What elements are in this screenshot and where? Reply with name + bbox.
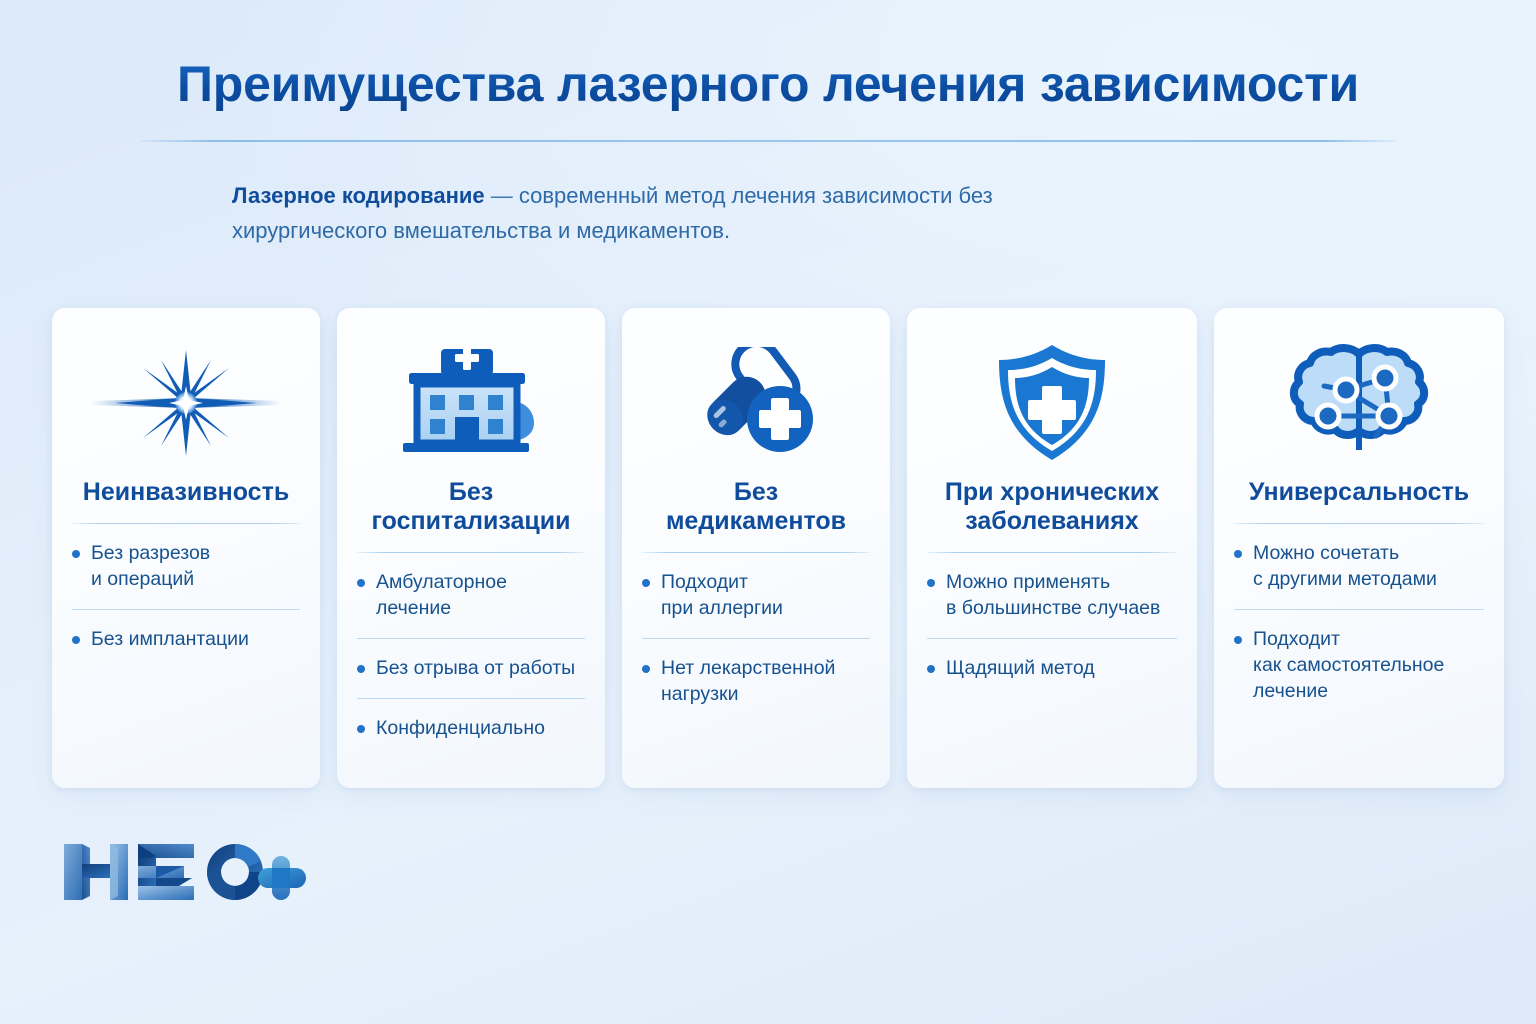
page-title: Преимущества лазерного лечения зависимос…: [0, 58, 1536, 111]
list-item: Амбулаторное лечение: [357, 553, 585, 638]
bullet-dot-icon: [1234, 550, 1242, 558]
list-item: Подходит как самостоятельное лечение: [1234, 609, 1484, 721]
benefit-card-universality[interactable]: Универсальность Можно сочетать с другими…: [1214, 308, 1504, 788]
title-divider: [141, 140, 1396, 142]
bullet-list: Можно сочетать с другими методами Подход…: [1234, 524, 1484, 721]
bullet-dot-icon: [357, 579, 365, 587]
bullet-dot-icon: [357, 725, 365, 733]
benefit-card-no-hospitalization[interactable]: Без госпитализации Амбулаторное лечение …: [337, 308, 605, 788]
bullet-list: Можно применять в большинстве случаев Ща…: [927, 553, 1177, 698]
laser-burst-icon: [91, 342, 281, 464]
benefit-card-no-medication[interactable]: Без медикаментов Подходит при аллергии Н…: [622, 308, 890, 788]
subtitle: Лазерное кодирование — современный метод…: [232, 178, 1132, 249]
bullet-text: Без отрыва от работы: [376, 656, 575, 682]
card-title: Без медикаментов: [642, 478, 870, 536]
hospital-building-icon: [391, 342, 551, 464]
bullet-text: Без имплантации: [91, 627, 249, 653]
card-title: Без госпитализации: [357, 478, 585, 536]
pills-medication-icon: [681, 342, 831, 464]
bullet-text: Подходит как самостоятельное лечение: [1253, 627, 1444, 705]
bullet-dot-icon: [642, 579, 650, 587]
card-title: Неинвазивность: [83, 478, 289, 507]
list-item: Без имплантации: [72, 609, 300, 669]
bullet-text: Нет лекарственной нагрузки: [661, 656, 835, 708]
bullet-text: Щадящий метод: [946, 656, 1095, 682]
bullet-dot-icon: [927, 579, 935, 587]
bullet-list: Без разрезов и операций Без имплантации: [72, 524, 300, 669]
bullet-text: Без разрезов и операций: [91, 541, 210, 593]
bullet-text: Можно сочетать с другими методами: [1253, 541, 1437, 593]
subtitle-strong: Лазерное кодирование: [232, 183, 485, 208]
brain-network-icon: [1284, 342, 1434, 464]
bullet-text: Можно применять в большинстве случаев: [946, 570, 1160, 622]
bullet-dot-icon: [72, 550, 80, 558]
infographic-page: Преимущества лазерного лечения зависимос…: [0, 0, 1536, 1024]
bullet-text: Конфиденциально: [376, 716, 545, 742]
bullet-text: Амбулаторное лечение: [376, 570, 507, 622]
bullet-text: Подходит при аллергии: [661, 570, 783, 622]
benefit-card-chronic-conditions[interactable]: При хронических заболеваниях Можно приме…: [907, 308, 1197, 788]
benefit-cards: Неинвазивность Без разрезов и операций Б…: [52, 308, 1504, 788]
card-title: При хронических заболеваниях: [927, 478, 1177, 536]
bullet-dot-icon: [642, 665, 650, 673]
shield-cross-icon: [990, 342, 1114, 464]
list-item: Без отрыва от работы: [357, 638, 585, 698]
list-item: Без разрезов и операций: [72, 524, 300, 609]
list-item: Можно сочетать с другими методами: [1234, 524, 1484, 609]
bullet-list: Амбулаторное лечение Без отрыва от работ…: [357, 553, 585, 758]
list-item: Подходит при аллергии: [642, 553, 870, 638]
bullet-dot-icon: [357, 665, 365, 673]
neo-plus-logo: [60, 836, 320, 908]
bullet-dot-icon: [927, 665, 935, 673]
bullet-dot-icon: [72, 636, 80, 644]
list-item: Щадящий метод: [927, 638, 1177, 698]
list-item: Конфиденциально: [357, 698, 585, 758]
bullet-list: Подходит при аллергии Нет лекарственной …: [642, 553, 870, 724]
subtitle-dash: —: [485, 183, 519, 208]
header: Преимущества лазерного лечения зависимос…: [0, 0, 1536, 142]
list-item: Можно применять в большинстве случаев: [927, 553, 1177, 638]
list-item: Нет лекарственной нагрузки: [642, 638, 870, 724]
card-title: Универсальность: [1249, 478, 1469, 507]
bullet-dot-icon: [1234, 636, 1242, 644]
benefit-card-noninvasive[interactable]: Неинвазивность Без разрезов и операций Б…: [52, 308, 320, 788]
